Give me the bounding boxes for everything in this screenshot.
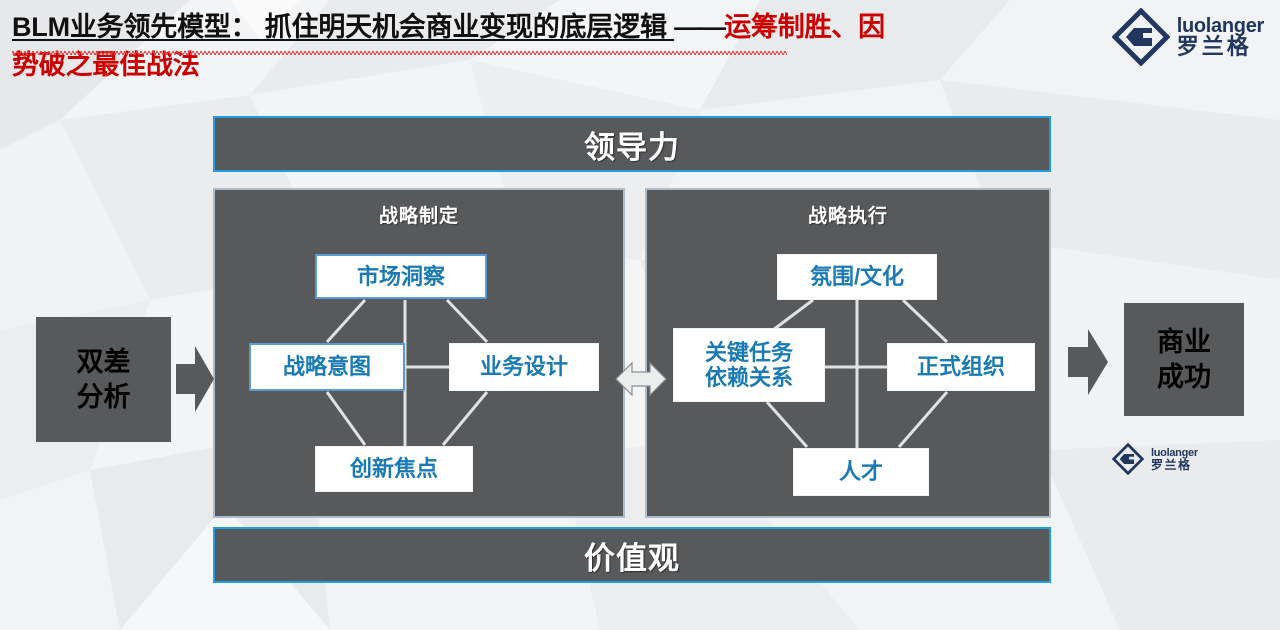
node-key-task-line2: 依赖关系 xyxy=(705,365,793,390)
title-line-1: BLM业务领先模型： 抓住明天机会商业变现的底层逻辑 ——运筹制胜、因 xyxy=(12,8,1062,46)
node-business-design[interactable]: 业务设计 xyxy=(449,343,599,391)
logo-cn-text: 罗兰格 xyxy=(1177,36,1264,58)
title-segment-black: BLM业务领先模型： 抓住明天机会商业变现的底层逻辑 xyxy=(12,12,674,42)
arrow-right-input xyxy=(176,343,214,415)
node-key-task-line1: 关键任务 xyxy=(705,340,793,365)
node-innovation-focus[interactable]: 创新焦点 xyxy=(315,446,473,492)
logo-en-text-small: luolanger xyxy=(1151,448,1198,459)
double-arrow-connector-icon xyxy=(610,348,672,410)
node-strategic-intent[interactable]: 战略意图 xyxy=(249,343,405,391)
output-box-business-success: 商业成功 xyxy=(1124,303,1244,416)
spellcheck-squiggle-underline xyxy=(12,51,787,55)
panel-strategy-formulation: 战略制定 市场洞察 战略意图 业务设计 创新焦点 xyxy=(213,188,625,518)
title-segment-dash: —— xyxy=(674,12,724,42)
banner-leadership: 领导力 xyxy=(213,116,1051,172)
banner-values: 价值观 xyxy=(213,527,1051,583)
luolanger-diamond-icon xyxy=(1112,8,1170,66)
input-box-dual-gap-analysis: 双差分析 xyxy=(36,317,171,442)
arrow-right-output xyxy=(1068,326,1108,398)
logo-cn-text-small: 罗兰格 xyxy=(1151,459,1198,471)
page-title: BLM业务领先模型： 抓住明天机会商业变现的底层逻辑 ——运筹制胜、因 势破之最… xyxy=(12,8,1062,85)
node-key-task-dependency[interactable]: 关键任务 依赖关系 xyxy=(673,328,825,402)
node-talent[interactable]: 人才 xyxy=(793,448,929,496)
node-formal-organization[interactable]: 正式组织 xyxy=(887,343,1035,391)
logo-en-text: luolanger xyxy=(1177,16,1264,36)
panel-strategy-execution: 战略执行 氛围/文化 关键任务 依赖关系 正式组织 人才 xyxy=(645,188,1051,518)
brand-logo-bottom: luolanger 罗兰格 xyxy=(1112,443,1198,475)
title-segment-red-1: 运筹制胜、因 xyxy=(724,12,885,42)
node-atmosphere-culture[interactable]: 氛围/文化 xyxy=(777,254,937,300)
node-market-insight[interactable]: 市场洞察 xyxy=(315,254,487,299)
luolanger-diamond-icon-small xyxy=(1112,443,1144,475)
brand-logo-top: luolanger 罗兰格 xyxy=(1112,8,1264,66)
